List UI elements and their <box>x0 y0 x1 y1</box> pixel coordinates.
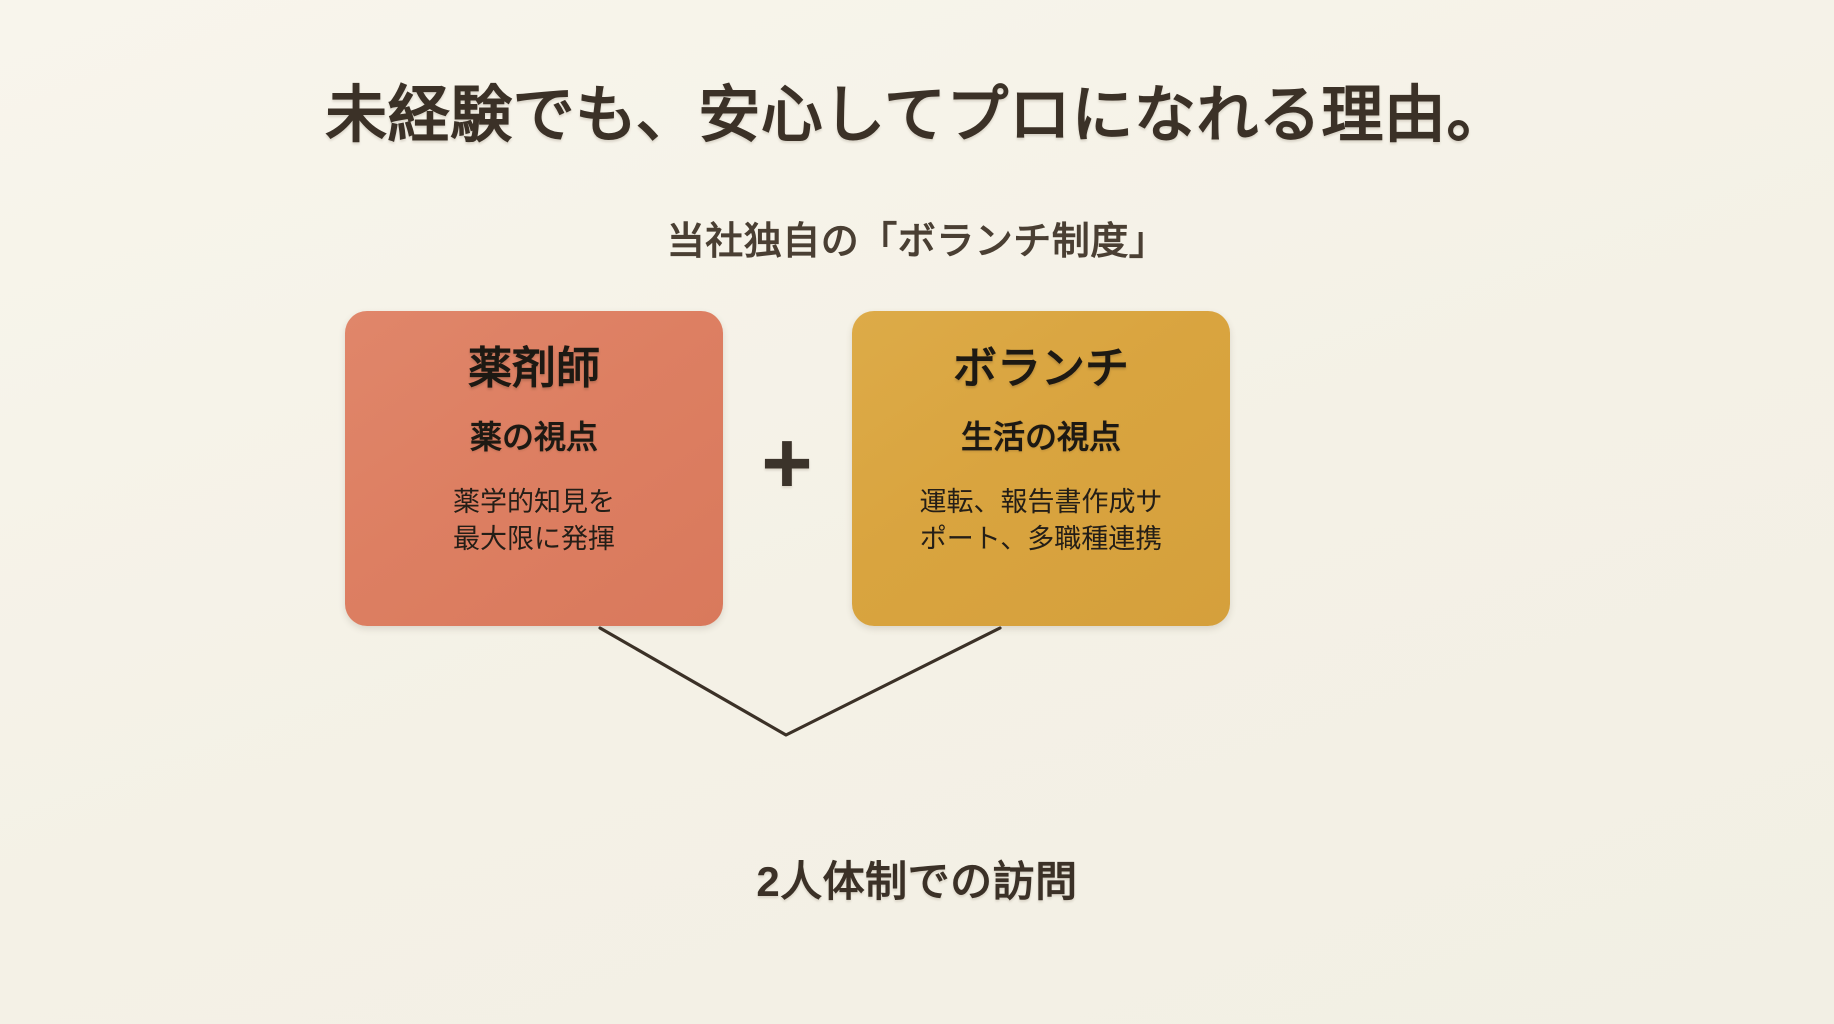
card-boranchi[interactable]: ボランチ 生活の視点 運転、報告書作成サ ポート、多職種連携 <box>852 311 1230 626</box>
plus-icon: + <box>748 424 826 502</box>
card-boranchi-subtitle: 生活の視点 <box>961 419 1121 456</box>
card-boranchi-description: 運転、報告書作成サ ポート、多職種連携 <box>920 484 1163 559</box>
page-subtitle: 当社独自の「ボランチ制度」 <box>0 210 1834 265</box>
connector-path <box>600 628 1000 735</box>
footer-caption: 2人体制での訪問 <box>0 848 1834 909</box>
card-pharmacist[interactable]: 薬剤師 薬の視点 薬学的知見を 最大限に発揮 <box>345 311 723 626</box>
card-pharmacist-title: 薬剤師 <box>468 345 600 393</box>
slide-canvas: 未経験でも、安心してプロになれる理由。 当社独自の「ボランチ制度」 薬剤師 薬の… <box>0 0 1834 1024</box>
card-pharmacist-description: 薬学的知見を 最大限に発揮 <box>453 484 615 559</box>
page-title: 未経験でも、安心してプロになれる理由。 <box>0 82 1834 150</box>
card-boranchi-title: ボランチ <box>953 345 1129 393</box>
card-pharmacist-subtitle: 薬の視点 <box>470 419 598 456</box>
